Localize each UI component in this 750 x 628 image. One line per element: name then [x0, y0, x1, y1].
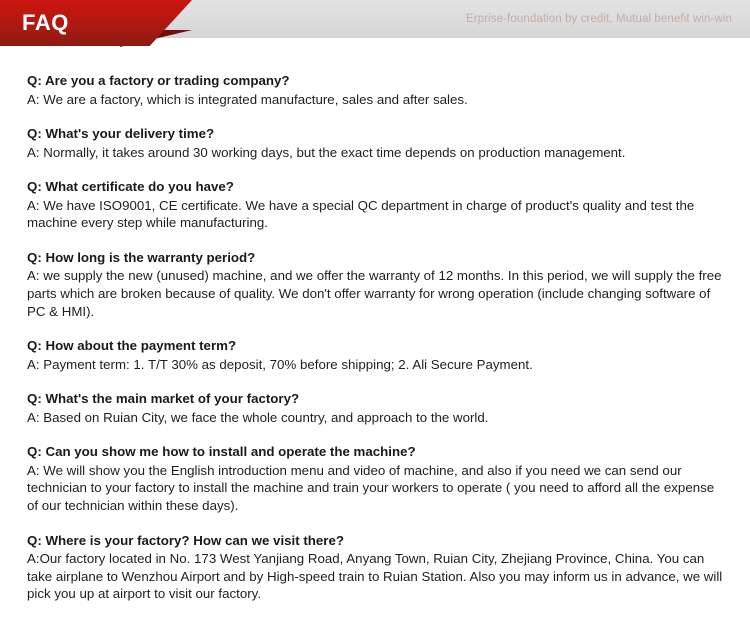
faq-question: Q: Can you show me how to install and op… [27, 443, 726, 461]
faq-item: Q: Can you show me how to install and op… [27, 443, 726, 514]
faq-question: Q: Where is your factory? How can we vis… [27, 532, 726, 550]
faq-answer: A: Based on Ruian City, we face the whol… [27, 409, 726, 427]
faq-answer: A: Payment term: 1. T/T 30% as deposit, … [27, 356, 726, 374]
faq-answer: A: Normally, it takes around 30 working … [27, 144, 726, 162]
page-title: FAQ [22, 11, 69, 35]
faq-answer: A: We have ISO9001, CE certificate. We h… [27, 197, 726, 232]
faq-question: Q: What's your delivery time? [27, 125, 726, 143]
faq-item: Q: What's the main market of your factor… [27, 390, 726, 426]
faq-question: Q: How long is the warranty period? [27, 249, 726, 267]
faq-question: Q: What certificate do you have? [27, 178, 726, 196]
faq-item: Q: What certificate do you have? A: We h… [27, 178, 726, 232]
faq-answer: A:Our factory located in No. 173 West Ya… [27, 550, 726, 603]
faq-item: Q: How long is the warranty period? A: w… [27, 249, 726, 320]
header-tagline: Erprise-foundation by credit, Mutual ben… [466, 0, 732, 38]
page-header: Erprise-foundation by credit, Mutual ben… [0, 0, 750, 50]
faq-item: Q: What's your delivery time? A: Normall… [27, 125, 726, 161]
faq-answer: A: We will show you the English introduc… [27, 462, 726, 515]
faq-question: Q: Are you a factory or trading company? [27, 72, 726, 90]
faq-answer: A: we supply the new (unused) machine, a… [27, 267, 726, 320]
faq-question: Q: How about the payment term? [27, 337, 726, 355]
faq-answer: A: We are a factory, which is integrated… [27, 91, 726, 109]
faq-question: Q: What's the main market of your factor… [27, 390, 726, 408]
faq-item: Q: Where is your factory? How can we vis… [27, 532, 726, 603]
faq-list: Q: Are you a factory or trading company?… [0, 50, 750, 603]
faq-item: Q: Are you a factory or trading company?… [27, 72, 726, 108]
faq-item: Q: How about the payment term? A: Paymen… [27, 337, 726, 373]
